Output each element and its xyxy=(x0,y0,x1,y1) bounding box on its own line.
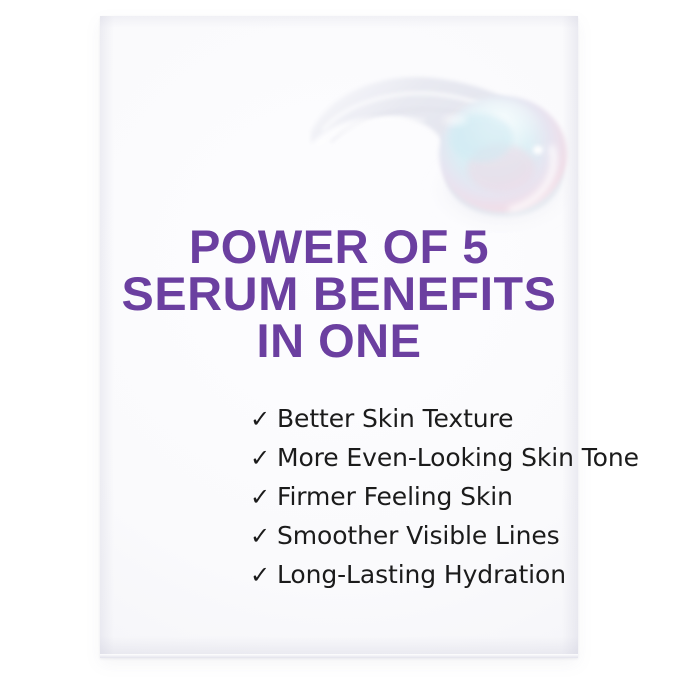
list-item: ✓ Better Skin Texture xyxy=(250,404,670,443)
benefit-label: More Even-Looking Skin Tone xyxy=(277,443,639,472)
check-icon: ✓ xyxy=(250,524,277,548)
check-icon: ✓ xyxy=(250,485,277,509)
headline-line-3: IN ONE xyxy=(100,317,578,364)
list-item: ✓ More Even-Looking Skin Tone xyxy=(250,443,670,482)
product-image: POWER OF 5 SERUM BENEFITS IN ONE ✓ Bette… xyxy=(0,0,679,679)
page-title: POWER OF 5 SERUM BENEFITS IN ONE xyxy=(100,223,578,364)
headline-line-2: SERUM BENEFITS xyxy=(93,270,585,317)
check-icon: ✓ xyxy=(250,446,277,470)
list-item: ✓ Smoother Visible Lines xyxy=(250,521,670,560)
panel-bottom-edge xyxy=(100,654,578,658)
list-item: ✓ Firmer Feeling Skin xyxy=(250,482,670,521)
benefit-label: Smoother Visible Lines xyxy=(277,521,560,550)
benefits-list: ✓ Better Skin Texture ✓ More Even-Lookin… xyxy=(250,404,670,599)
serum-swatch-icon xyxy=(305,58,625,233)
benefit-label: Long-Lasting Hydration xyxy=(277,560,566,589)
packaging-panel: POWER OF 5 SERUM BENEFITS IN ONE ✓ Bette… xyxy=(100,16,578,658)
list-item: ✓ Long-Lasting Hydration xyxy=(250,560,670,599)
benefit-label: Better Skin Texture xyxy=(277,404,513,433)
check-icon: ✓ xyxy=(250,407,277,431)
benefit-label: Firmer Feeling Skin xyxy=(277,482,513,511)
headline-line-1: POWER OF 5 xyxy=(100,223,578,270)
check-icon: ✓ xyxy=(250,563,277,587)
